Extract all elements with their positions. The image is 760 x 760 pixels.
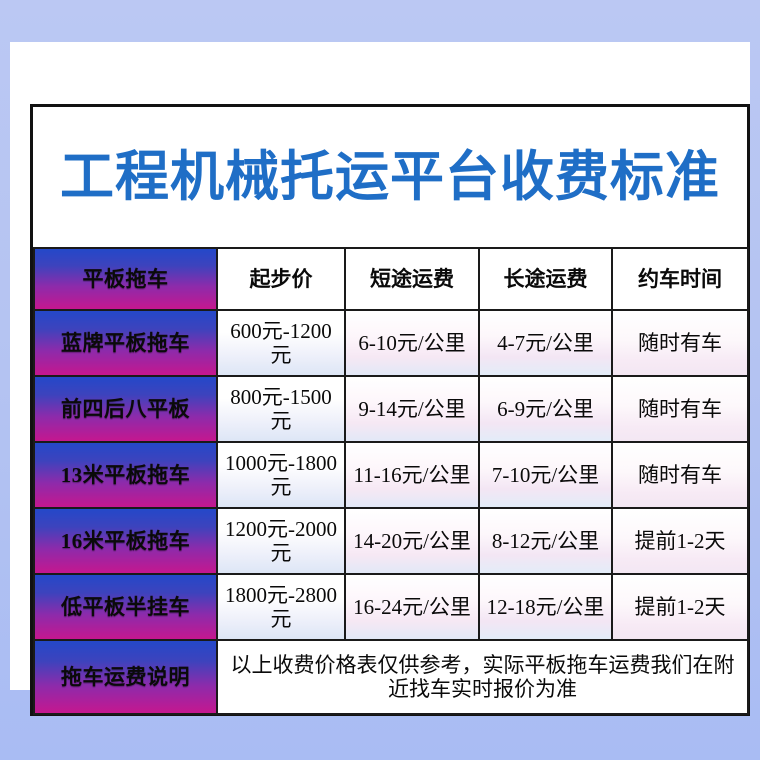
cell-start-price: 1800元-2800元: [217, 574, 345, 640]
cell-short-haul: 14-20元/公里: [345, 508, 479, 574]
note-label: 拖车运费说明: [34, 640, 217, 714]
poster-page: 工程机械托运平台收费标准 平板拖车 起步价 短途运费 长途运费 约车时间 蓝牌平…: [0, 0, 760, 760]
title-area: 工程机械托运平台收费标准: [33, 107, 747, 247]
cell-booking-time: 提前1-2天: [612, 508, 748, 574]
cell-start-price: 600元-1200元: [217, 310, 345, 376]
page-title: 工程机械托运平台收费标准: [60, 150, 720, 204]
row-label: 前四后八平板: [34, 376, 217, 442]
content-frame: 工程机械托运平台收费标准 平板拖车 起步价 短途运费 长途运费 约车时间 蓝牌平…: [30, 104, 750, 716]
row-label: 蓝牌平板拖车: [34, 310, 217, 376]
table-row: 低平板半挂车 1800元-2800元 16-24元/公里 12-18元/公里 提…: [34, 574, 748, 640]
cell-long-haul: 8-12元/公里: [479, 508, 612, 574]
header-cell-long-haul: 长途运费: [479, 248, 612, 310]
cell-long-haul: 6-9元/公里: [479, 376, 612, 442]
row-label: 13米平板拖车: [34, 442, 217, 508]
header-cell-vehicle-type: 平板拖车: [34, 248, 217, 310]
table-row: 前四后八平板 800元-1500元 9-14元/公里 6-9元/公里 随时有车: [34, 376, 748, 442]
cell-start-price: 1200元-2000元: [217, 508, 345, 574]
table-row: 13米平板拖车 1000元-1800元 11-16元/公里 7-10元/公里 随…: [34, 442, 748, 508]
note-text: 以上收费价格表仅供参考，实际平板拖车运费我们在附近找车实时报价为准: [217, 640, 748, 714]
cell-short-haul: 16-24元/公里: [345, 574, 479, 640]
cell-short-haul: 6-10元/公里: [345, 310, 479, 376]
table-note-row: 拖车运费说明 以上收费价格表仅供参考，实际平板拖车运费我们在附近找车实时报价为准: [34, 640, 748, 714]
cell-long-haul: 7-10元/公里: [479, 442, 612, 508]
cell-long-haul: 12-18元/公里: [479, 574, 612, 640]
header-cell-start-price: 起步价: [217, 248, 345, 310]
table-row: 蓝牌平板拖车 600元-1200元 6-10元/公里 4-7元/公里 随时有车: [34, 310, 748, 376]
header-cell-booking-time: 约车时间: [612, 248, 748, 310]
cell-booking-time: 随时有车: [612, 310, 748, 376]
cell-booking-time: 提前1-2天: [612, 574, 748, 640]
table-row: 16米平板拖车 1200元-2000元 14-20元/公里 8-12元/公里 提…: [34, 508, 748, 574]
cell-booking-time: 随时有车: [612, 442, 748, 508]
cell-booking-time: 随时有车: [612, 376, 748, 442]
cell-short-haul: 9-14元/公里: [345, 376, 479, 442]
cell-start-price: 1000元-1800元: [217, 442, 345, 508]
row-label: 低平板半挂车: [34, 574, 217, 640]
table-header-row: 平板拖车 起步价 短途运费 长途运费 约车时间: [34, 248, 748, 310]
cell-start-price: 800元-1500元: [217, 376, 345, 442]
pricing-table: 平板拖车 起步价 短途运费 长途运费 约车时间 蓝牌平板拖车 600元-1200…: [33, 247, 749, 715]
header-cell-short-haul: 短途运费: [345, 248, 479, 310]
row-label: 16米平板拖车: [34, 508, 217, 574]
cell-long-haul: 4-7元/公里: [479, 310, 612, 376]
white-card: 工程机械托运平台收费标准 平板拖车 起步价 短途运费 长途运费 约车时间 蓝牌平…: [10, 42, 750, 690]
cell-short-haul: 11-16元/公里: [345, 442, 479, 508]
